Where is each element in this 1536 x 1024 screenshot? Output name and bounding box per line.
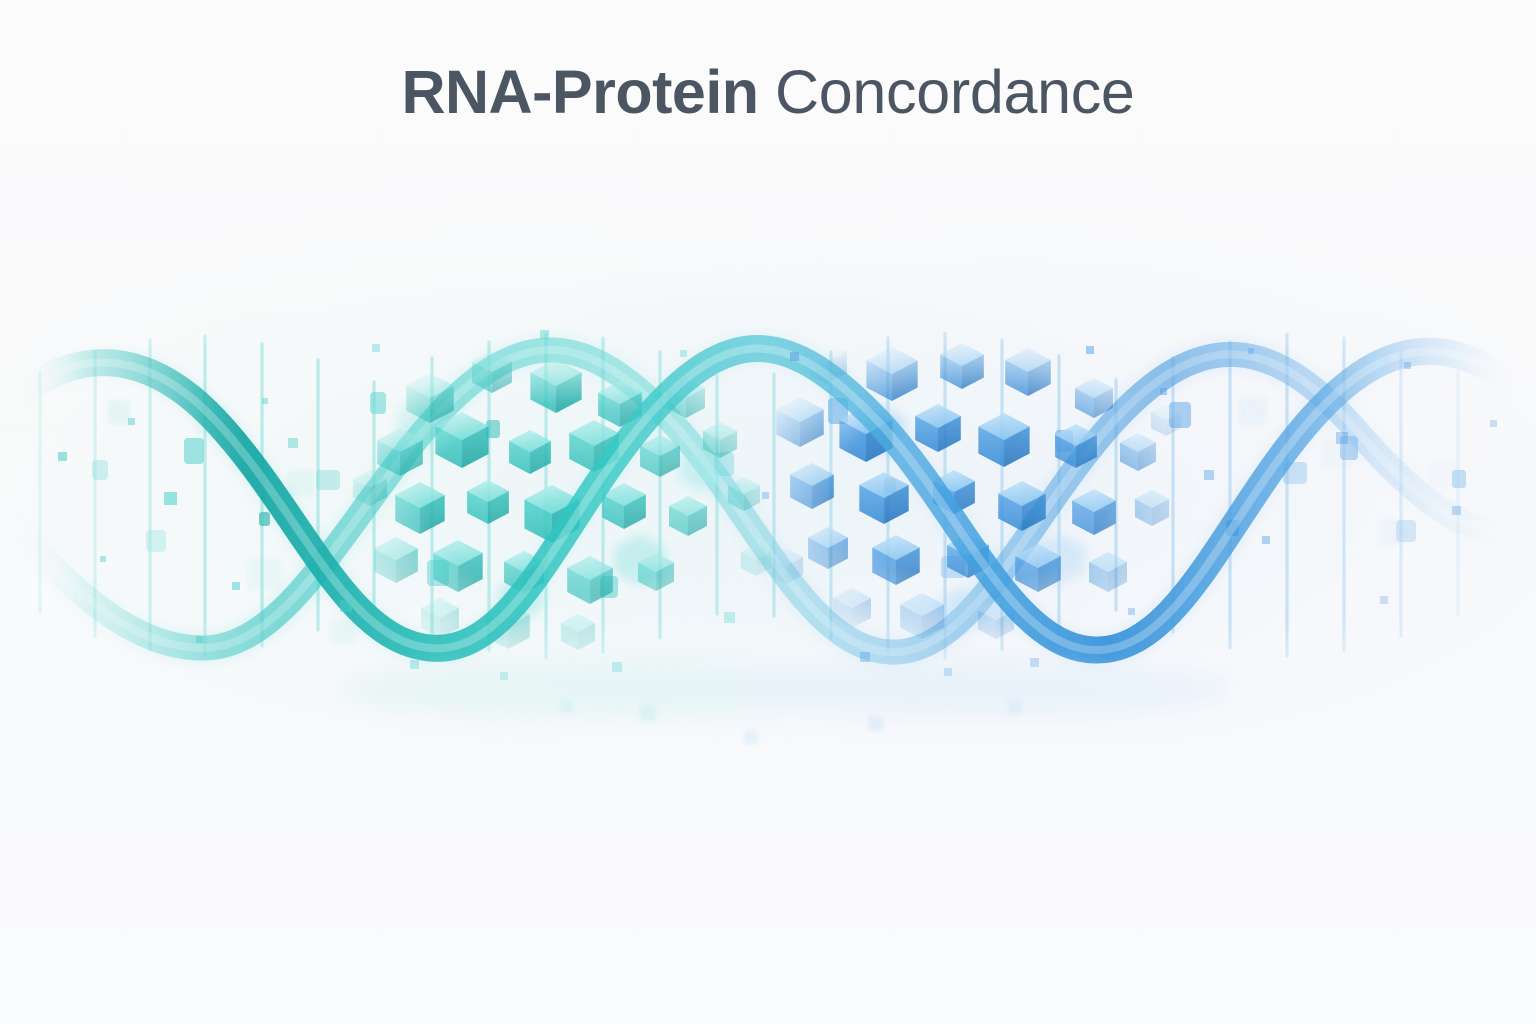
illustration-canvas: RNA-Protein Concordance <box>0 0 1536 1024</box>
helix-ribbon-b <box>0 350 1536 652</box>
cube <box>872 535 920 585</box>
cube <box>395 482 444 534</box>
cube <box>1135 490 1169 526</box>
cube <box>940 343 984 389</box>
cube <box>561 614 595 650</box>
cube-cloud-teal <box>353 351 771 650</box>
page-title-light: Concordance <box>775 58 1135 126</box>
ground-glow <box>340 664 1230 716</box>
cube <box>859 472 908 524</box>
cube <box>776 397 824 447</box>
helix-strand-back <box>0 350 1536 652</box>
cube <box>467 480 509 524</box>
cube <box>1072 489 1116 535</box>
cube <box>1005 348 1051 396</box>
cube <box>866 347 917 401</box>
cube <box>808 527 848 569</box>
page-title-strong: RNA-Protein <box>401 58 758 126</box>
cube <box>1120 433 1156 471</box>
cube <box>669 496 707 536</box>
cube <box>978 413 1029 467</box>
page-title: RNA-Protein Concordance <box>0 62 1536 123</box>
cube <box>1089 552 1127 592</box>
cube <box>790 463 834 509</box>
cube <box>915 404 961 452</box>
dna-double-helix-illustration <box>0 0 1536 1024</box>
cube <box>374 537 418 583</box>
page-title-space <box>759 58 775 126</box>
